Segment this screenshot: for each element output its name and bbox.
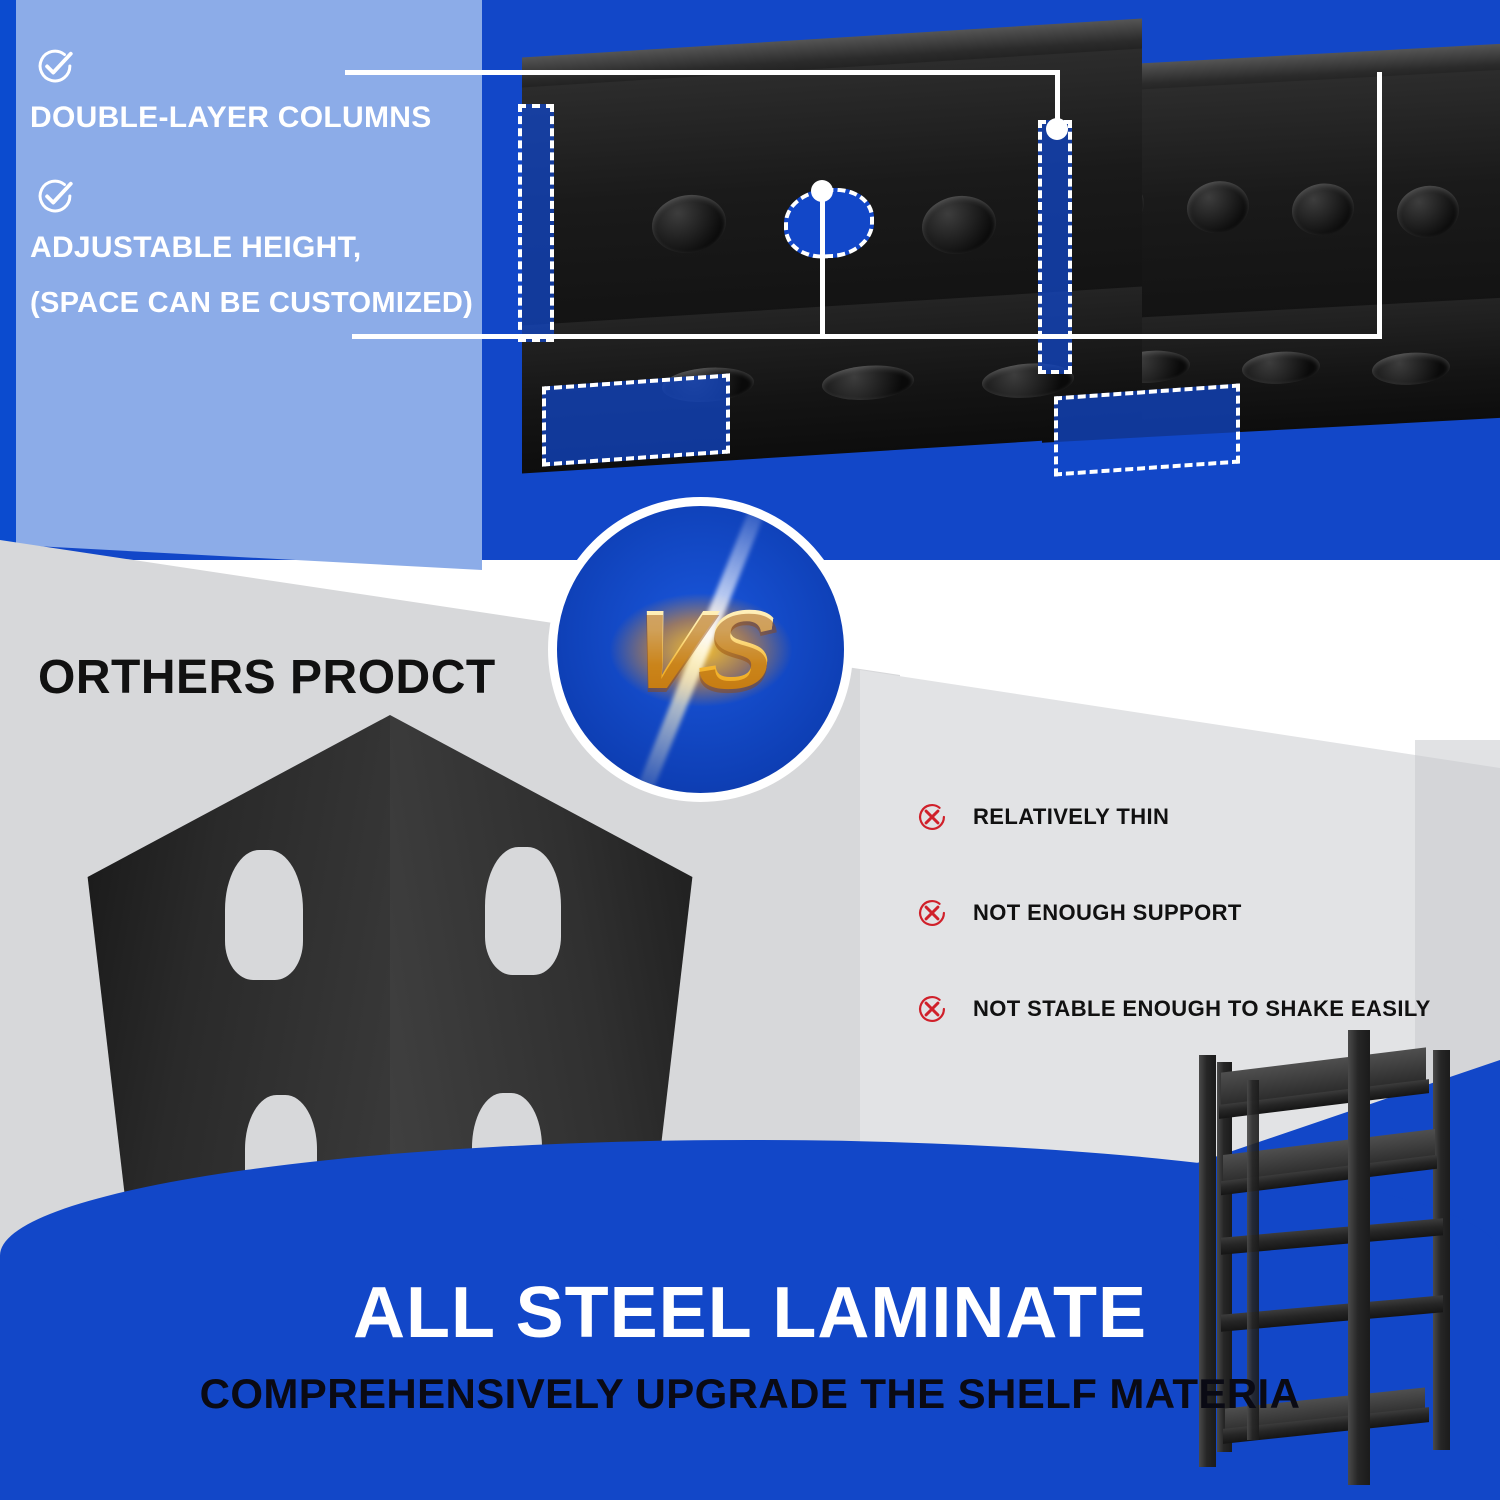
five-tier-shelving-unit-photo bbox=[1185, 1020, 1470, 1490]
con-label: NOT STABLE ENOUGH TO SHAKE EASILY bbox=[973, 996, 1431, 1022]
infographic-canvas: DOUBLE-LAYER COLUMNS ADJUSTABLE HEIGHT, … bbox=[0, 0, 1500, 1500]
left-accent-bar bbox=[0, 0, 16, 545]
callout-line-keyhole bbox=[820, 190, 825, 338]
con-item: RELATIVELY THIN bbox=[915, 800, 1475, 834]
feature-note: (SPACE CAN BE CUSTOMIZED) bbox=[30, 287, 470, 320]
beam-keyhole bbox=[1292, 182, 1354, 237]
beam-flange-slot bbox=[822, 363, 914, 403]
vs-badge: VS bbox=[548, 497, 853, 802]
feature-list: DOUBLE-LAYER COLUMNS ADJUSTABLE HEIGHT, … bbox=[30, 45, 470, 360]
beam-keyhole bbox=[652, 193, 726, 256]
callout-dot-right bbox=[1046, 118, 1068, 140]
callout-line-middle bbox=[352, 334, 1382, 339]
bracket-keyhole bbox=[225, 850, 303, 980]
bracket-keyhole bbox=[485, 847, 561, 975]
double-layer-highlight bbox=[518, 104, 554, 342]
beam-keyhole bbox=[922, 194, 996, 257]
x-circle-icon bbox=[915, 896, 949, 930]
others-product-title: ORTHERS PRODCT bbox=[38, 650, 496, 705]
banner-title: ALL STEEL LAMINATE bbox=[0, 1272, 1500, 1354]
banner-subtitle: COMPREHENSIVELY UPGRADE THE SHELF MATERI… bbox=[0, 1370, 1500, 1418]
con-label: RELATIVELY THIN bbox=[973, 804, 1169, 830]
feature-item: DOUBLE-LAYER COLUMNS bbox=[30, 45, 470, 135]
vs-label: VS bbox=[623, 585, 779, 714]
feature-label: ADJUSTABLE HEIGHT, bbox=[30, 231, 470, 265]
con-item: NOT ENOUGH SUPPORT bbox=[915, 896, 1475, 930]
callout-dot-keyhole bbox=[811, 180, 833, 202]
check-circle-icon bbox=[34, 45, 76, 87]
feature-item: ADJUSTABLE HEIGHT, bbox=[30, 175, 470, 265]
x-circle-icon bbox=[915, 992, 949, 1026]
beam-flange-slot bbox=[1372, 351, 1450, 387]
beam-flange-slot bbox=[1242, 350, 1320, 386]
steel-beam-photo bbox=[482, 10, 1500, 530]
double-layer-highlight bbox=[542, 373, 730, 466]
beam-keyhole bbox=[1187, 180, 1249, 235]
feature-label: DOUBLE-LAYER COLUMNS bbox=[30, 101, 470, 135]
double-layer-highlight bbox=[1054, 383, 1240, 476]
x-circle-icon bbox=[915, 800, 949, 834]
con-label: NOT ENOUGH SUPPORT bbox=[973, 900, 1242, 926]
callout-line-right bbox=[1377, 72, 1382, 337]
our-product-title: OUR PRODCT bbox=[1052, 555, 1380, 610]
beam-keyhole bbox=[1397, 184, 1459, 239]
check-circle-icon bbox=[34, 175, 76, 217]
